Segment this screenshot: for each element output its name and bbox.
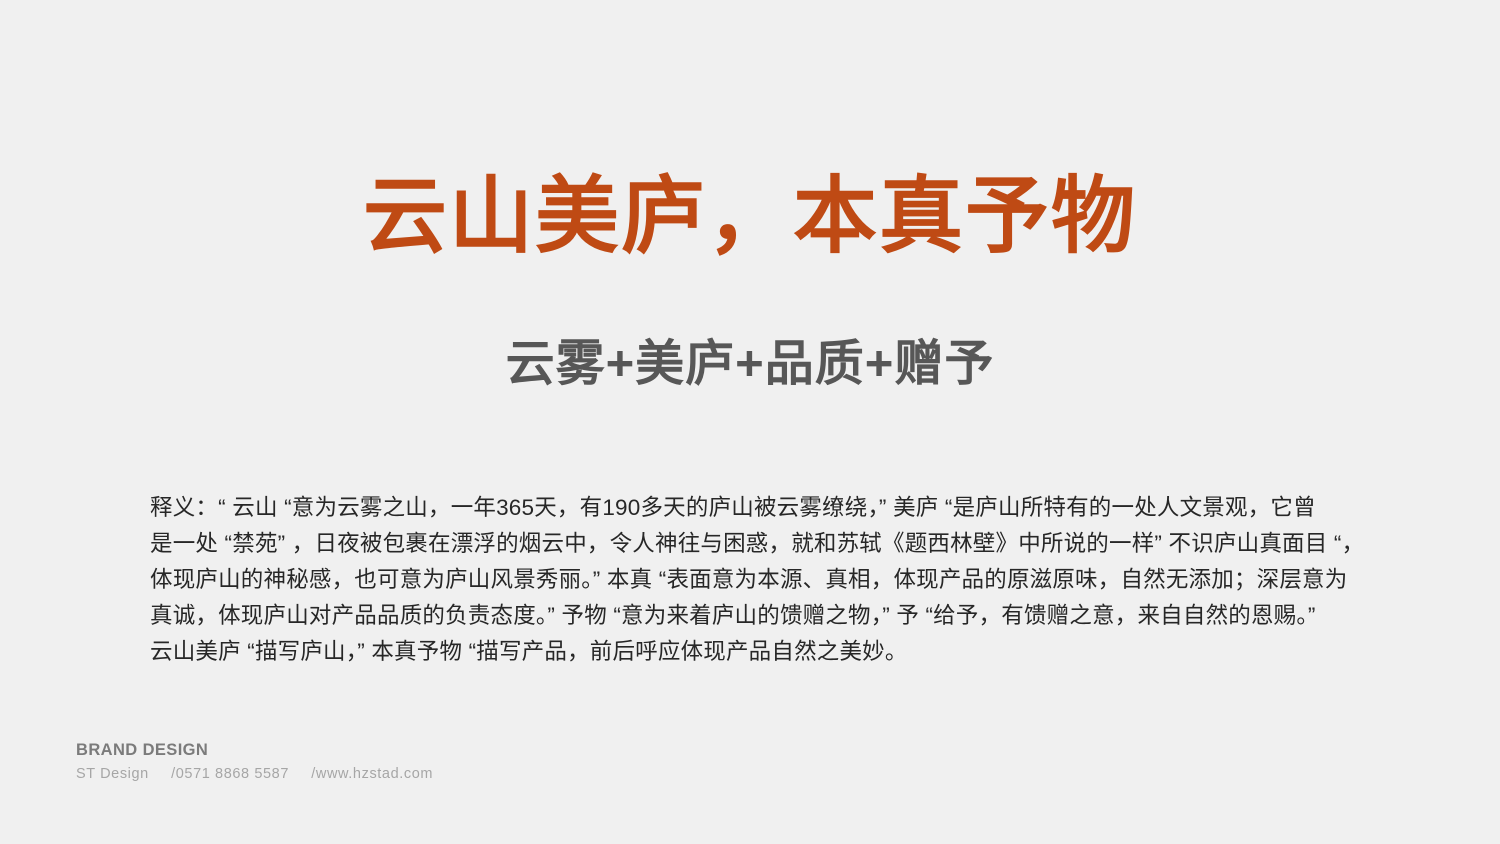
paragraph-line: 是一处 “禁苑” ，日夜被包裹在漂浮的烟云中，令人神往与困惑，就和苏轼《题西林壁…	[150, 526, 1346, 562]
paragraph-line: 体现庐山的神秘感，也可意为庐山风景秀丽。” 本真 “表面意为本源、真相，体现产品…	[150, 562, 1346, 598]
footer: BRAND DESIGN ST Design /0571 8868 5587 /…	[76, 740, 776, 784]
page-subtitle: 云雾+美庐+品质+赠予	[506, 338, 995, 392]
subtitle-area: 云雾+美庐+品质+赠予	[0, 338, 1500, 392]
presentation-slide: 云山美庐，本真予物 云雾+美庐+品质+赠予 释义：“ 云山 “意为云雾之山，一年…	[0, 0, 1500, 844]
footer-studio-name: ST Design	[76, 766, 149, 782]
paragraph-line: 释义：“ 云山 “意为云雾之山，一年365天，有190多天的庐山被云雾缭绕，” …	[150, 490, 1346, 526]
footer-phone: /0571 8868 5587	[171, 766, 289, 782]
footer-contact-line: ST Design /0571 8868 5587 /www.hzstad.co…	[76, 765, 776, 784]
definition-paragraph: 释义：“ 云山 “意为云雾之山，一年365天，有190多天的庐山被云雾缭绕，” …	[150, 490, 1346, 670]
page-title: 云山美庐，本真予物	[363, 172, 1137, 260]
title-area: 云山美庐，本真予物	[0, 172, 1500, 260]
footer-brand-label: BRAND DESIGN	[76, 740, 776, 760]
footer-website: /www.hzstad.com	[311, 766, 433, 782]
paragraph-line: 真诚，体现庐山对产品品质的负责态度。” 予物 “意为来着庐山的馈赠之物，” 予 …	[150, 598, 1346, 634]
paragraph-line: 云山美庐 “描写庐山，” 本真予物 “描写产品，前后呼应体现产品自然之美妙。	[150, 634, 1346, 670]
